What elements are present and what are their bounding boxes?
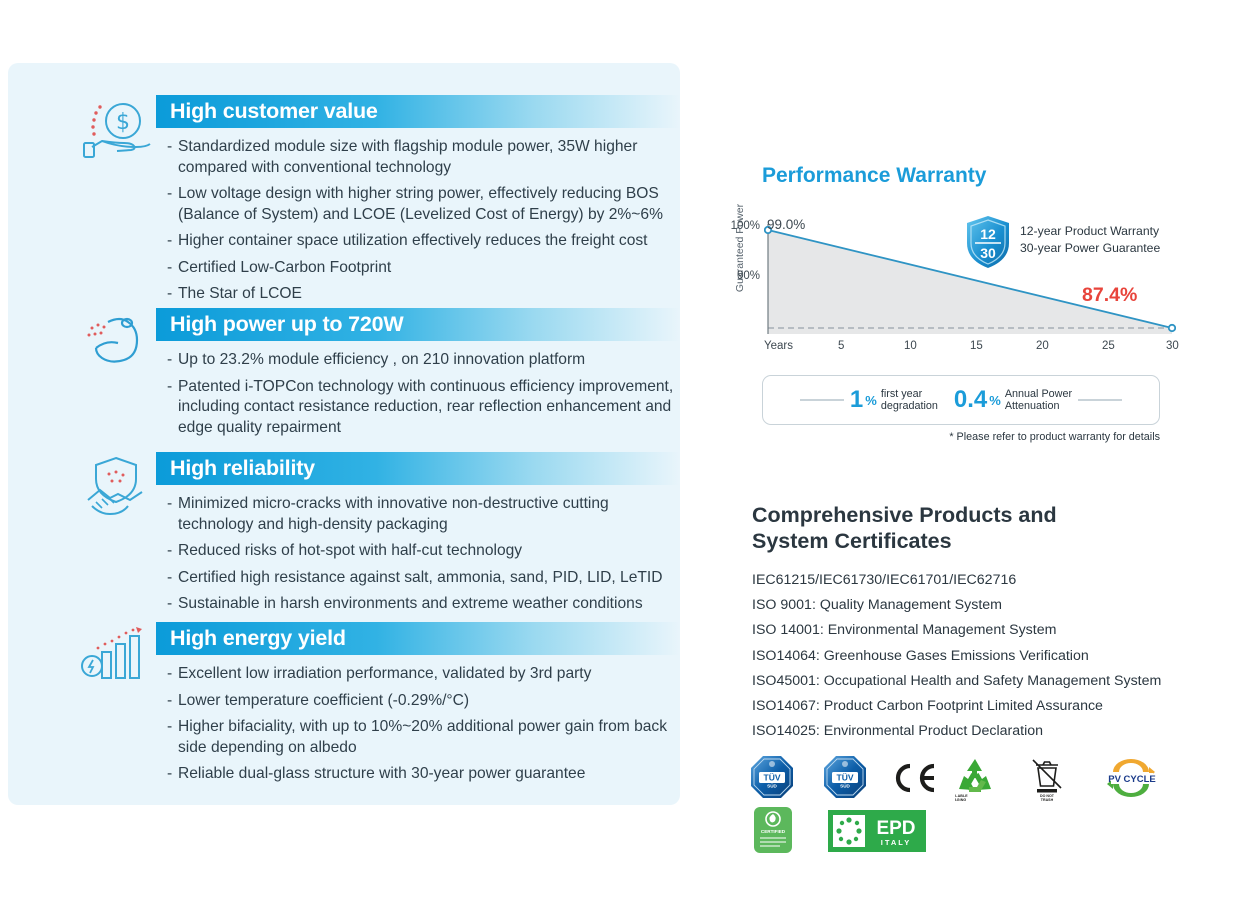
feature-header-bar: High customer value <box>156 95 680 128</box>
bullet-item: Standardized module size with flagship m… <box>167 137 680 178</box>
shield-power-years: 30 <box>980 245 996 261</box>
divider-line <box>1078 399 1122 400</box>
tuv-sud-logo: TÜV SÜD <box>823 755 867 806</box>
warranty-disclaimer-note: * Please refer to product warranty for d… <box>762 431 1160 443</box>
certificate-item: ISO 14001: Environmental Management Syst… <box>752 618 1222 643</box>
bullet-item: Minimized micro-cracks with innovative n… <box>167 494 680 535</box>
certification-logos-row-1: TÜV SÜD TÜV SÜD <box>750 755 1230 803</box>
x-tick-label: 15 <box>970 340 983 352</box>
features-panel: $ High customer value Standardized m <box>8 63 680 805</box>
bullet-item: Certified high resistance against salt, … <box>167 568 680 589</box>
bullet-item: The Star of LCOE <box>167 284 680 305</box>
tuv-sud-logo: TÜV SÜD <box>750 755 794 806</box>
caption-line-2: Attenuation <box>1005 400 1072 413</box>
warranty-shield-icon: 12 30 <box>965 215 1011 269</box>
attenuation-caption: Annual Power Attenuation <box>1005 388 1072 413</box>
chart-start-value-label: 99.0% <box>767 217 805 232</box>
x-tick-label: 5 <box>838 340 844 352</box>
chart-x-axis: Years 5 10 15 20 25 30 <box>718 340 1188 358</box>
degradation-value: 1 <box>850 386 863 414</box>
shield-product-years: 12 <box>980 226 996 242</box>
feature-title: High customer value <box>170 99 378 124</box>
feature-bullets: Excellent low irradiation performance, v… <box>156 664 680 785</box>
feature-bullets: Minimized micro-cracks with innovative n… <box>156 494 680 615</box>
degradation-unit: % <box>865 393 877 408</box>
bullet-item: Reduced risks of hot-spot with half-cut … <box>167 541 680 562</box>
divider-line <box>800 399 844 400</box>
x-tick-label: 30 <box>1166 340 1179 352</box>
bullet-item: Certified Low-Carbon Footprint <box>167 258 680 279</box>
bullet-item: Lower temperature coefficient (-0.29%/°C… <box>167 691 680 712</box>
svg-text:TRASH: TRASH <box>1041 798 1054 802</box>
pv-cycle-label: PV CYCLE <box>1108 774 1156 785</box>
performance-warranty-title: Performance Warranty <box>762 164 986 188</box>
feature-bullets: Standardized module size with flagship m… <box>156 137 680 305</box>
bullet-item: Higher container space utilization effec… <box>167 231 680 252</box>
caption-line-2: degradation <box>881 400 938 413</box>
do-not-trash-weee-logo: DO NOT TRASH <box>1028 756 1066 807</box>
certificate-item: ISO14067: Product Carbon Footprint Limit… <box>752 694 1222 719</box>
badge-line-power: 30-year Power Guarantee <box>1020 240 1160 257</box>
feature-header-bar: High power up to 720W <box>156 308 680 341</box>
certificates-list: IEC61215/IEC61730/IEC61701/IEC62716 ISO … <box>752 568 1222 744</box>
feature-bullets: Up to 23.2% module efficiency , on 210 i… <box>156 350 680 438</box>
epd-sublabel: ITALY <box>881 838 911 847</box>
chart-end-value-label: 87.4% <box>1082 284 1137 307</box>
certificates-title-line-2: System Certificates <box>752 528 1057 554</box>
x-tick-label: Years <box>764 340 793 352</box>
feature-body: High energy yield Excellent low irradiat… <box>156 622 680 791</box>
feature-body: High power up to 720W Up to 23.2% module… <box>156 308 680 444</box>
caption-line-1: first year <box>881 388 938 401</box>
certificate-item: ISO45001: Occupational Health and Safety… <box>752 669 1222 694</box>
feature-title: High energy yield <box>170 626 346 651</box>
flexed-bicep-icon <box>78 308 154 380</box>
certificate-item: ISO 9001: Quality Management System <box>752 593 1222 618</box>
bar-chart-bolt-icon <box>78 622 154 694</box>
certificates-title-line-1: Comprehensive Products and <box>752 502 1057 528</box>
first-year-degradation: 1 % first year degradation <box>850 386 938 414</box>
epd-label: EPD <box>876 818 915 839</box>
attenuation-value: 0.4 <box>954 386 987 414</box>
svg-text:SÜD: SÜD <box>840 783 850 789</box>
green-certified-badge-logo: CERTIFIED <box>752 806 794 859</box>
feature-body: High customer value Standardized module … <box>156 95 680 311</box>
degradation-caption: first year degradation <box>881 388 938 413</box>
certificate-item: ISO14064: Greenhouse Gases Emissions Ver… <box>752 644 1222 669</box>
epd-italy-logo: EPD ITALY <box>828 810 926 857</box>
bullet-item: Up to 23.2% module efficiency , on 210 i… <box>167 350 680 371</box>
shield-handshake-icon <box>78 452 154 524</box>
svg-text:$: $ <box>116 110 130 135</box>
svg-text:TÜV: TÜV <box>837 773 854 783</box>
green-badge-label: CERTIFIED <box>761 829 786 834</box>
feature-header-bar: High reliability <box>156 452 680 485</box>
certificate-item: IEC61215/IEC61730/IEC61701/IEC62716 <box>752 568 1222 593</box>
right-column: Performance Warranty Guaranteed Power 10… <box>700 0 1240 897</box>
feature-title: High reliability <box>170 456 315 481</box>
y-tick-label: 90% <box>718 270 760 282</box>
bullet-item: Low voltage design with higher string po… <box>167 184 680 225</box>
svg-text:SÜD: SÜD <box>767 783 777 789</box>
attenuation-unit: % <box>989 393 1001 408</box>
svg-text:TÜV: TÜV <box>764 773 781 783</box>
annual-power-attenuation: 0.4 % Annual Power Attenuation <box>954 386 1072 414</box>
svg-text:PACKAGING: PACKAGING <box>955 798 966 802</box>
bullet-item: Excellent low irradiation performance, v… <box>167 664 680 685</box>
y-tick-label: 100% <box>718 220 760 232</box>
bullet-item: Higher bifaciality, with up to 10%~20% a… <box>167 717 680 758</box>
feature-title: High power up to 720W <box>170 312 404 337</box>
hand-holding-dollar-icon: $ <box>78 95 154 167</box>
feature-body: High reliability Minimized micro-cracks … <box>156 452 680 621</box>
warranty-badge-text: 12-year Product Warranty 30-year Power G… <box>1020 223 1160 257</box>
pv-cycle-logo: PV CYCLE <box>1095 758 1167 803</box>
badge-line-product: 12-year Product Warranty <box>1020 223 1160 240</box>
bullet-item: Sustainable in harsh environments and ex… <box>167 594 680 615</box>
certification-logos-row-2: CERTIFIED <box>750 806 1230 856</box>
x-tick-label: 10 <box>904 340 917 352</box>
x-tick-label: 25 <box>1102 340 1115 352</box>
certificate-item: ISO14025: Environmental Product Declarat… <box>752 719 1222 744</box>
ce-mark-logo <box>890 763 938 798</box>
bullet-item: Patented i-TOPCon technology with contin… <box>167 377 680 439</box>
certificates-title: Comprehensive Products and System Certif… <box>752 502 1057 554</box>
bullet-item: Reliable dual-glass structure with 30-ye… <box>167 764 680 785</box>
degradation-summary-box: 1 % first year degradation 0.4 % Annual … <box>762 375 1160 425</box>
feature-header-bar: High energy yield <box>156 622 680 655</box>
recyclable-packaging-logo: RECYCLABLE PACKAGING <box>955 756 995 807</box>
datasheet-page: $ High customer value Standardized m <box>0 0 1240 897</box>
caption-line-1: Annual Power <box>1005 388 1072 401</box>
x-tick-label: 20 <box>1036 340 1049 352</box>
